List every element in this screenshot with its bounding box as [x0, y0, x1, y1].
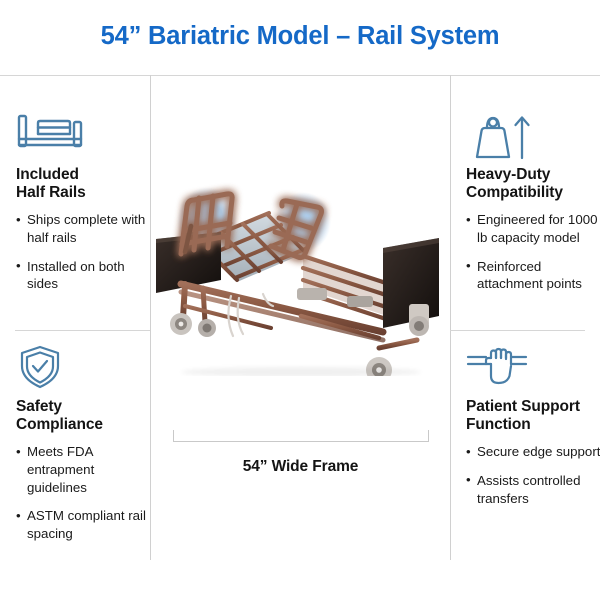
feature-heading: Heavy-Duty Compatibility: [466, 166, 600, 202]
weight-up-arrow-icon: [466, 112, 600, 160]
list-item: Meets FDA entrapment guidelines: [16, 443, 154, 496]
list-item: Installed on both sides: [16, 258, 154, 293]
page-title: 54” Bariatric Model – Rail System: [0, 22, 600, 51]
horizontal-divider-right: [450, 330, 585, 331]
shield-check-icon: [16, 344, 154, 392]
feature-bullet-list: Meets FDA entrapment guidelines ASTM com…: [16, 443, 154, 542]
feature-heavy-duty-compatibility: Heavy-Duty Compatibility Engineered for …: [466, 112, 600, 304]
feature-patient-support-function: Patient Support Function Secure edge sup…: [466, 344, 600, 518]
width-dimension-bracket: [173, 430, 429, 442]
list-item: Reinforced attachment points: [466, 258, 600, 293]
list-item: Engineered for 1000 lb capacity model: [466, 211, 600, 246]
vertical-divider-right: [450, 75, 451, 560]
hand-grip-rail-icon: [466, 344, 600, 392]
list-item: Secure edge support: [466, 443, 600, 461]
list-item: Assists controlled transfers: [466, 472, 600, 507]
hospital-bed-half-rail-icon: [16, 112, 154, 160]
list-item: Ships complete with half rails: [16, 211, 154, 246]
feature-heading: Safety Compliance: [16, 398, 154, 434]
feature-included-half-rails: Included Half Rails Ships complete with …: [16, 112, 154, 304]
product-image-frame: [151, 76, 450, 431]
dimension-line: [173, 441, 429, 442]
feature-bullet-list: Ships complete with half rails Installed…: [16, 211, 154, 293]
center-product-panel: 54” Wide Frame: [151, 76, 450, 560]
feature-heading: Patient Support Function: [466, 398, 600, 434]
infographic-canvas: 54” Bariatric Model – Rail System: [0, 0, 600, 600]
dimension-tick-end: [428, 430, 429, 442]
center-caption: 54” Wide Frame: [151, 458, 450, 476]
bariatric-hospital-bed-photo: [151, 176, 450, 376]
feature-bullet-list: Secure edge support Assists controlled t…: [466, 443, 600, 507]
list-item: ASTM compliant rail spacing: [16, 507, 154, 542]
feature-heading: Included Half Rails: [16, 166, 154, 202]
horizontal-divider-left: [15, 330, 150, 331]
feature-bullet-list: Engineered for 1000 lb capacity model Re…: [466, 211, 600, 293]
feature-safety-compliance: Safety Compliance Meets FDA entrapment g…: [16, 344, 154, 554]
